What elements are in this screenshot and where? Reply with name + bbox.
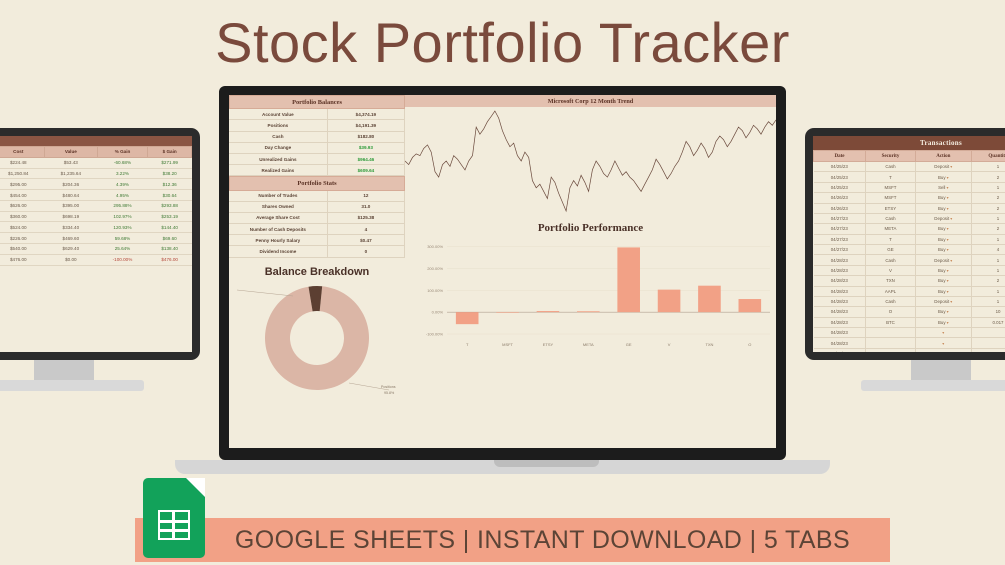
- balance-row[interactable]: Realized Gains$609.64: [229, 165, 405, 176]
- table-cell: 04/28/23: [814, 348, 866, 352]
- bar[interactable]: [496, 312, 519, 313]
- table-cell: 04/26/23: [814, 203, 866, 213]
- table-cell: Buy ▾: [915, 286, 971, 296]
- table-cell: 1: [971, 182, 1005, 192]
- table-cell: [971, 338, 1005, 348]
- bar[interactable]: [698, 286, 721, 312]
- x-axis-tick-label: V: [668, 342, 671, 347]
- table-cell: GE: [866, 245, 916, 255]
- x-axis-tick-label: META: [583, 342, 594, 347]
- google-sheets-icon: [143, 478, 205, 558]
- table-row[interactable]: 04/28/23 ▾: [814, 338, 1005, 348]
- chevron-down-icon[interactable]: ▾: [946, 320, 949, 325]
- portfolio-performance-bar-chart[interactable]: -100.00%0.00%100.00%200.00%300.00%TMSFTE…: [405, 234, 776, 354]
- table-cell: [866, 328, 916, 338]
- table-cell: 04/25/23: [814, 162, 866, 172]
- balance-breakdown-title: Balance Breakdown: [229, 266, 405, 278]
- table-cell: $1,235.64: [45, 168, 98, 179]
- table-cell: $12.36: [148, 179, 192, 190]
- table-cell: [866, 338, 916, 348]
- table-cell: Buy ▾: [915, 276, 971, 286]
- portfolio-performance-title: Portfolio Performance: [405, 222, 776, 234]
- transactions-column-header: Security: [866, 151, 916, 162]
- chevron-down-icon[interactable]: ▾: [942, 330, 944, 335]
- chevron-down-icon[interactable]: ▾: [942, 341, 944, 346]
- table-cell: $53.43: [45, 157, 98, 168]
- table-row[interactable]: 04/28/23VBuy ▾1115: [814, 265, 1005, 275]
- transactions-column-header: Action: [915, 151, 971, 162]
- table-cell: 1: [971, 213, 1005, 223]
- stat-row[interactable]: Number of Trades12: [229, 191, 405, 202]
- row-value: $4,374.19: [327, 109, 404, 120]
- table-cell: 1: [971, 265, 1005, 275]
- table-cell: V: [866, 265, 916, 275]
- table-cell: $524.00: [0, 222, 45, 233]
- table-row[interactable]: 04/26/23ETSYBuy ▾295: [814, 203, 1005, 213]
- table-row[interactable]: $1.56$540.00$629.4025.64%$138.40: [0, 244, 192, 255]
- x-axis-tick-label: GE: [626, 342, 632, 347]
- table-cell: 1: [971, 286, 1005, 296]
- table-cell: [971, 348, 1005, 352]
- table-cell: Buy ▾: [915, 234, 971, 244]
- table-cell: $395.00: [45, 200, 98, 211]
- table-cell: $1,250.84: [0, 168, 45, 179]
- table-cell: Deposit ▾: [915, 162, 971, 172]
- portfolio-balances-table[interactable]: Account Value$4,374.19Positions$4,191.39…: [229, 109, 405, 176]
- transactions-header-row: DateSecurityActionQuantityPrice: [814, 151, 1005, 162]
- table-cell: 1: [971, 234, 1005, 244]
- sheets-icon-fold: [186, 478, 205, 497]
- row-label: Cash: [229, 131, 327, 142]
- portfolio-stats-header: Portfolio Stats: [229, 176, 405, 190]
- row-label: Unrealized Gains: [229, 153, 327, 164]
- table-cell: [971, 328, 1005, 338]
- row-value: 4: [327, 224, 404, 235]
- table-cell: O: [866, 307, 916, 317]
- table-cell: 04/28/23: [814, 328, 866, 338]
- dashboard-left-column: Portfolio Balances Account Value$4,374.1…: [229, 95, 405, 448]
- table-cell: $334.40: [45, 222, 98, 233]
- table-cell: Sell ▾: [915, 182, 971, 192]
- table-cell: Cash: [866, 213, 916, 223]
- stat-row[interactable]: Number of Cash Deposits4: [229, 224, 405, 235]
- table-cell: $69.60: [148, 233, 192, 244]
- row-label: Shares Owned: [229, 201, 327, 212]
- row-label: Day Change: [229, 142, 327, 153]
- chevron-down-icon[interactable]: ▾: [949, 258, 952, 263]
- table-cell: Buy ▾: [915, 307, 971, 317]
- table-row[interactable]: 04/27/23METABuy ▾2225: [814, 224, 1005, 234]
- table-cell: 1: [971, 255, 1005, 265]
- positions-column-header: Value: [45, 147, 98, 158]
- trend-chart-title: Microsoft Corp 12 Month Trend: [405, 95, 776, 107]
- table-cell: MSFT: [866, 182, 916, 192]
- right-monitor: Transactions DateSecurityActionQuantityP…: [805, 128, 1005, 398]
- table-cell: $476.00: [148, 254, 192, 265]
- left-monitor-bezel: Positions $ ChangeCostValue% Gain$ Gain …: [0, 128, 200, 360]
- table-cell: $138.40: [148, 244, 192, 255]
- table-row[interactable]: 04/28/23AAPLBuy ▾1100: [814, 286, 1005, 296]
- x-axis-tick-label: T: [466, 342, 469, 347]
- table-cell: 04/27/23: [814, 224, 866, 234]
- table-cell: 04/27/23: [814, 234, 866, 244]
- table-cell: 2: [971, 203, 1005, 213]
- left-monitor-stand-neck: [34, 360, 94, 382]
- left-monitor-stand-base: [0, 380, 144, 391]
- table-cell: Deposit ▾: [915, 213, 971, 223]
- table-cell: -100.00%: [97, 254, 148, 265]
- row-value: 31.0: [327, 201, 404, 212]
- table-cell: ▾: [915, 338, 971, 348]
- table-cell: 102.97%: [97, 211, 148, 222]
- stat-row[interactable]: Dividend Income0: [229, 246, 405, 257]
- table-cell: ▾: [915, 328, 971, 338]
- table-cell: 4.39%: [97, 179, 148, 190]
- table-cell: 3.22%: [97, 168, 148, 179]
- table-cell: -60.68%: [97, 157, 148, 168]
- x-axis-tick-label: MSFT: [502, 342, 513, 347]
- table-cell: 2: [971, 224, 1005, 234]
- right-monitor-stand-neck: [911, 360, 971, 382]
- table-cell: Buy ▾: [915, 172, 971, 182]
- table-cell: 25.64%: [97, 244, 148, 255]
- table-cell: Deposit ▾: [915, 255, 971, 265]
- table-cell: $480.64: [45, 190, 98, 201]
- dashboard-right-column: Microsoft Corp 12 Month Trend Portfolio …: [405, 95, 776, 448]
- table-cell: Buy ▾: [915, 224, 971, 234]
- table-row[interactable]: 04/25/23CashDeposit ▾1400: [814, 162, 1005, 172]
- table-cell: $360.00: [0, 211, 45, 222]
- portfolio-stats-table[interactable]: Number of Trades12Shares Owned31.0Averag…: [229, 191, 405, 258]
- table-cell: $469.60: [45, 233, 98, 244]
- balance-row[interactable]: Cash$182.80: [229, 131, 405, 142]
- table-row[interactable]: 04/27/23TBuy ▾1130: [814, 234, 1005, 244]
- positions-column-header: % Gain: [97, 147, 148, 158]
- table-cell: 04/28/23: [814, 286, 866, 296]
- table-cell: T: [866, 172, 916, 182]
- table-row[interactable]: 04/26/23MSFTBuy ▾2295.34: [814, 193, 1005, 203]
- table-cell: Cash: [866, 255, 916, 265]
- bar[interactable]: [658, 290, 681, 313]
- left-monitor: Positions $ ChangeCostValue% Gain$ Gain …: [0, 128, 200, 398]
- row-value: $39.93: [327, 142, 404, 153]
- table-row[interactable]: 04/25/23MSFTSell ▾1304.82: [814, 182, 1005, 192]
- table-cell: ETSY: [866, 203, 916, 213]
- table-row[interactable]: $0.24$224.48$53.43-60.68%$271.99: [0, 157, 192, 168]
- chevron-down-icon[interactable]: ▾: [946, 175, 949, 180]
- table-cell: 04/27/23: [814, 213, 866, 223]
- table-row[interactable]: 04/28/23 ▾: [814, 328, 1005, 338]
- table-cell: $293.88: [148, 200, 192, 211]
- row-value: 0: [327, 246, 404, 257]
- table-row[interactable]: $1.00$295.00$204.364.39%$12.36: [0, 179, 192, 190]
- row-value: $4,191.39: [327, 120, 404, 131]
- table-cell: $226.00: [0, 233, 45, 244]
- table-cell: BTC: [866, 317, 916, 327]
- stat-row[interactable]: Average Share Cost$125.38: [229, 212, 405, 223]
- laptop-bezel: Portfolio Balances Account Value$4,374.1…: [219, 86, 786, 460]
- row-label: Number of Cash Deposits: [229, 224, 327, 235]
- table-row[interactable]: 04/28/23BTCBuy ▾0.01728000: [814, 317, 1005, 327]
- table-cell: $476.00: [0, 254, 45, 265]
- table-cell: 10: [971, 307, 1005, 317]
- table-cell: Buy ▾: [915, 245, 971, 255]
- promo-banner-text: GOOGLE SHEETS | INSTANT DOWNLOAD | 5 TAB…: [175, 526, 850, 555]
- chevron-down-icon[interactable]: ▾: [949, 164, 952, 169]
- row-label: Number of Trades: [229, 191, 327, 202]
- table-cell: T: [866, 234, 916, 244]
- bar[interactable]: [739, 299, 762, 312]
- table-cell: 0.017: [971, 317, 1005, 327]
- table-cell: META: [866, 224, 916, 234]
- table-row[interactable]: $12.19$360.00$698.19102.97%$253.19: [0, 211, 192, 222]
- chevron-down-icon[interactable]: ▾: [946, 289, 949, 294]
- table-row[interactable]: $3.52$454.00$480.644.95%$30.64: [0, 190, 192, 201]
- dashboard-spreadsheet[interactable]: Portfolio Balances Account Value$4,374.1…: [229, 95, 776, 448]
- laptop: Portfolio Balances Account Value$4,374.1…: [219, 86, 786, 476]
- chevron-down-icon[interactable]: ▾: [946, 206, 949, 211]
- table-cell: $698.19: [45, 211, 98, 222]
- table-cell: Buy ▾: [915, 317, 971, 327]
- positions-table[interactable]: $ ChangeCostValue% Gain$ Gain $0.24$224.…: [0, 146, 192, 266]
- table-cell: $626.00: [0, 200, 45, 211]
- table-cell: 04/28/23: [814, 265, 866, 275]
- table-row[interactable]: $3.46$524.00$334.40120.93%$144.40: [0, 222, 192, 233]
- table-cell: 1: [971, 296, 1005, 306]
- table-cell: $30.64: [148, 190, 192, 201]
- portfolio-balances-header: Portfolio Balances: [229, 95, 405, 109]
- table-cell: $224.48: [0, 157, 45, 168]
- table-cell: 04/26/23: [814, 193, 866, 203]
- table-row[interactable]: 04/28/23CashDeposit ▾11500: [814, 255, 1005, 265]
- table-cell: 120.93%: [97, 222, 148, 233]
- row-value: $125.38: [327, 212, 404, 223]
- table-cell: 04/28/23: [814, 338, 866, 348]
- bar[interactable]: [456, 312, 479, 324]
- table-cell: 04/28/23: [814, 255, 866, 265]
- table-cell: $144.40: [148, 222, 192, 233]
- table-row[interactable]: 04/28/23OBuy ▾1050: [814, 307, 1005, 317]
- transactions-column-header: Quantity: [971, 151, 1005, 162]
- chevron-down-icon[interactable]: ▾: [946, 237, 949, 242]
- table-cell: 295.88%: [97, 200, 148, 211]
- table-cell: 2: [971, 172, 1005, 182]
- stat-row[interactable]: Shares Owned31.0: [229, 201, 405, 212]
- right-monitor-stand-base: [861, 380, 1005, 391]
- table-row[interactable]: 04/28/23 ▾: [814, 348, 1005, 352]
- table-cell: $629.40: [45, 244, 98, 255]
- row-value: $0.47: [327, 235, 404, 246]
- row-value: $964.46: [327, 153, 404, 164]
- table-cell: 04/28/23: [814, 276, 866, 286]
- bar[interactable]: [537, 311, 560, 312]
- x-axis-tick-label: TXN: [705, 342, 713, 347]
- table-row[interactable]: $0.00$476.00$0.00-100.00%$476.00: [0, 254, 192, 265]
- table-cell: 2: [971, 193, 1005, 203]
- table-cell: 04/28/23: [814, 307, 866, 317]
- positions-column-header: Cost: [0, 147, 45, 158]
- table-cell: 04/28/23: [814, 317, 866, 327]
- transactions-sheet-title: Transactions: [813, 136, 1005, 150]
- table-row[interactable]: 04/28/23CashDeposit ▾12000: [814, 296, 1005, 306]
- donut-callout-label: Positions: [381, 385, 396, 389]
- table-cell: Cash: [866, 296, 916, 306]
- table-cell: 2: [971, 276, 1005, 286]
- page-title: Stock Portfolio Tracker: [0, 8, 1005, 78]
- y-axis-tick-label: 300.00%: [427, 244, 443, 249]
- chevron-down-icon[interactable]: ▾: [946, 309, 949, 314]
- table-cell: $540.00: [0, 244, 45, 255]
- table-cell: $253.19: [148, 211, 192, 222]
- table-row[interactable]: 04/27/23GEBuy ▾425: [814, 245, 1005, 255]
- table-cell: Cash: [866, 162, 916, 172]
- chevron-down-icon[interactable]: ▾: [946, 268, 949, 273]
- promo-banner: GOOGLE SHEETS | INSTANT DOWNLOAD | 5 TAB…: [135, 518, 890, 562]
- table-cell: Deposit ▾: [915, 296, 971, 306]
- chevron-down-icon[interactable]: ▾: [946, 247, 949, 252]
- table-row[interactable]: $1.27$226.00$469.6059.68%$69.60: [0, 233, 192, 244]
- table-cell: [866, 348, 916, 352]
- table-row[interactable]: 04/28/23TXNBuy ▾275: [814, 276, 1005, 286]
- table-cell: Buy ▾: [915, 193, 971, 203]
- positions-spreadsheet[interactable]: Positions $ ChangeCostValue% Gain$ Gain …: [0, 136, 192, 352]
- balance-row[interactable]: Day Change$39.93: [229, 142, 405, 153]
- table-cell: $271.99: [148, 157, 192, 168]
- table-cell: $38.20: [148, 168, 192, 179]
- y-axis-tick-label: 200.00%: [427, 266, 443, 271]
- bar[interactable]: [577, 311, 600, 312]
- chevron-down-icon[interactable]: ▾: [946, 278, 949, 283]
- x-axis-tick-label: ETSY: [543, 342, 554, 347]
- chevron-down-icon[interactable]: ▾: [949, 216, 952, 221]
- row-value: 12: [327, 191, 404, 202]
- table-cell: $204.36: [45, 179, 98, 190]
- row-value: $182.80: [327, 131, 404, 142]
- y-axis-tick-label: -100.00%: [426, 332, 444, 337]
- transactions-column-header: Date: [814, 151, 866, 162]
- chevron-down-icon[interactable]: ▾: [949, 299, 952, 304]
- table-cell: 1: [971, 162, 1005, 172]
- row-label: Account Value: [229, 109, 327, 120]
- table-cell: 04/28/23: [814, 296, 866, 306]
- table-cell: 4.95%: [97, 190, 148, 201]
- table-cell: $0.00: [45, 254, 98, 265]
- table-cell: Buy ▾: [915, 265, 971, 275]
- table-cell: 04/27/23: [814, 245, 866, 255]
- table-cell: AAPL: [866, 286, 916, 296]
- balance-row[interactable]: Positions$4,191.39: [229, 120, 405, 131]
- table-cell: 4: [971, 245, 1005, 255]
- chevron-down-icon[interactable]: ▾: [945, 185, 948, 190]
- balance-breakdown-donut-chart[interactable]: Positions 95.8%: [229, 278, 405, 403]
- y-axis-tick-label: 0.00%: [432, 310, 444, 315]
- sheets-icon-grid: [158, 510, 190, 540]
- table-cell: MSFT: [866, 193, 916, 203]
- transactions-table[interactable]: DateSecurityActionQuantityPrice 04/25/23…: [813, 150, 1005, 352]
- positions-sheet-title: Positions: [0, 136, 192, 146]
- x-axis-tick-label: O: [748, 342, 751, 347]
- donut-callout-value: 95.8%: [384, 391, 395, 395]
- stat-row[interactable]: Penny Hourly Salary$0.47: [229, 235, 405, 246]
- table-row[interactable]: 04/25/23TBuy ▾2107.5: [814, 172, 1005, 182]
- table-cell: $454.00: [0, 190, 45, 201]
- balance-row[interactable]: Account Value$4,374.19: [229, 109, 405, 120]
- positions-header-row: $ ChangeCostValue% Gain$ Gain: [0, 147, 192, 158]
- row-label: Average Share Cost: [229, 212, 327, 223]
- table-cell: 04/25/23: [814, 182, 866, 192]
- transactions-spreadsheet[interactable]: Transactions DateSecurityActionQuantityP…: [813, 136, 1005, 352]
- table-row[interactable]: $3.04$626.00$395.00295.88%$293.88: [0, 200, 192, 211]
- balance-row[interactable]: Unrealized Gains$964.46: [229, 153, 405, 164]
- row-label: Realized Gains: [229, 165, 327, 176]
- row-label: Dividend Income: [229, 246, 327, 257]
- positions-column-header: $ Gain: [148, 147, 192, 158]
- table-cell: 04/25/23: [814, 172, 866, 182]
- table-row[interactable]: 04/27/23CashDeposit ▾1500: [814, 213, 1005, 223]
- table-cell: Buy ▾: [915, 203, 971, 213]
- right-monitor-bezel: Transactions DateSecurityActionQuantityP…: [805, 128, 1005, 360]
- table-row[interactable]: $0.72$1,250.84$1,235.643.22%$38.20: [0, 168, 192, 179]
- bar[interactable]: [617, 248, 640, 313]
- table-cell: 59.68%: [97, 233, 148, 244]
- sheets-icon-grid-line: [172, 512, 175, 538]
- y-axis-tick-label: 100.00%: [427, 288, 443, 293]
- chevron-down-icon[interactable]: ▾: [946, 195, 949, 200]
- row-label: Positions: [229, 120, 327, 131]
- table-cell: ▾: [915, 348, 971, 352]
- table-cell: $295.00: [0, 179, 45, 190]
- chevron-down-icon[interactable]: ▾: [942, 351, 944, 352]
- row-label: Penny Hourly Salary: [229, 235, 327, 246]
- microsoft-trend-line-chart[interactable]: [405, 107, 776, 217]
- table-cell: TXN: [866, 276, 916, 286]
- laptop-notch: [494, 460, 599, 467]
- chevron-down-icon[interactable]: ▾: [946, 226, 949, 231]
- row-value: $609.64: [327, 165, 404, 176]
